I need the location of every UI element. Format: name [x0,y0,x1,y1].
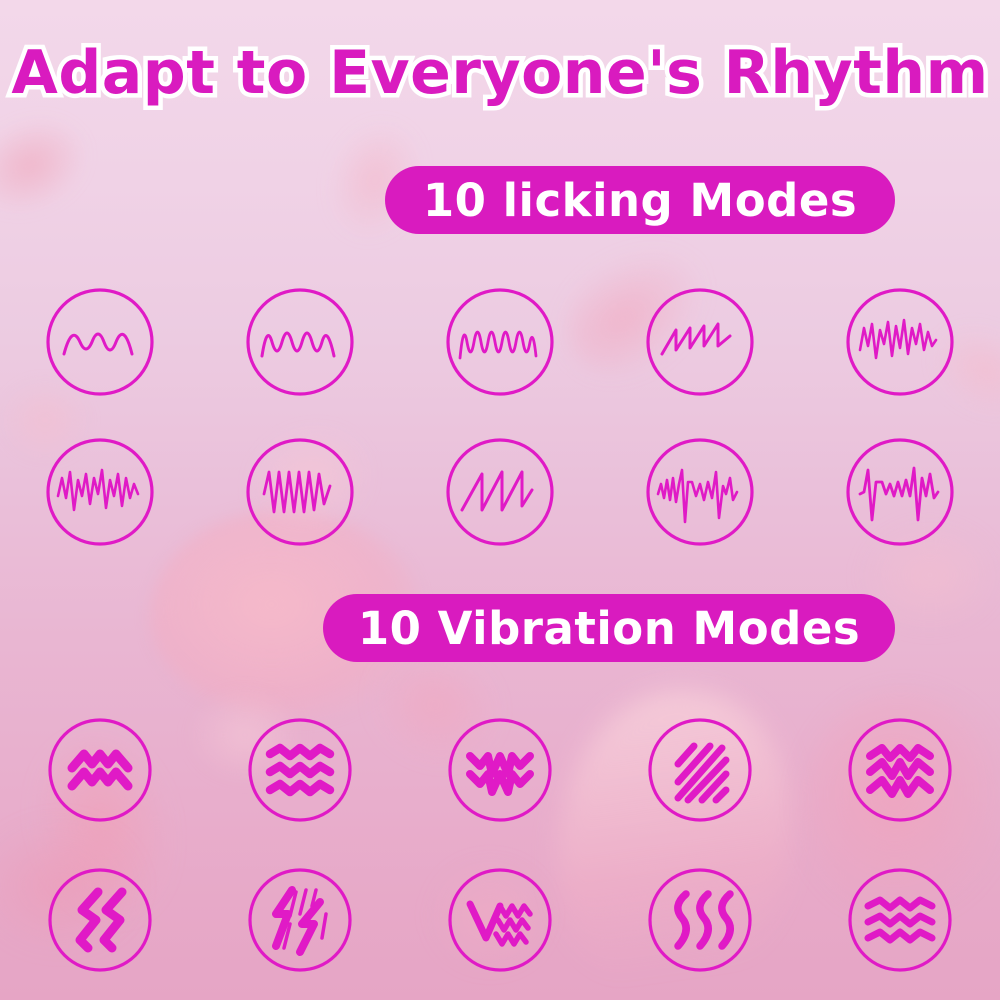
mode-icon-wave-sine-medium[interactable] [242,284,358,400]
v-ripple-icon [442,862,558,978]
mode-icon-triple-wavy-line[interactable] [842,862,958,978]
diagonal-hatch-icon [642,712,758,828]
mode-icon-diagonal-hatch[interactable] [642,712,758,828]
wave-pulse-spike-icon [842,434,958,550]
w-wave-stack-icon [442,712,558,828]
wave-sine-slow-icon [42,284,158,400]
page-title: Adapt to Everyone's Rhythm [0,38,1000,108]
mode-icon-lightning-bolts[interactable] [242,862,358,978]
licking-modes-grid [0,284,1000,584]
section-badge-licking: 10 licking Modes [385,166,895,234]
zigzag-wave-stack-icon [842,712,958,828]
double-lightning-zigzag-icon [42,862,158,978]
wave-pulse-burst-icon [642,434,758,550]
mode-icon-zigzag-wave-stack[interactable] [842,712,958,828]
mode-icon-wave-spiky-dense[interactable] [42,434,158,550]
infographic-canvas: Adapt to Everyone's Rhythm 10 licking Mo… [0,0,1000,1000]
triple-horizontal-wave-icon [242,712,358,828]
mode-icon-double-lightning-zigzag[interactable] [42,862,158,978]
mode-icon-wave-sawtooth-wide[interactable] [442,434,558,550]
wave-sawtooth-wide-icon [442,434,558,550]
wave-zigzag-tall-icon [242,434,358,550]
wave-sine-fast-icon [442,284,558,400]
mode-icon-wave-sawtooth-rising[interactable] [642,284,758,400]
rose-petal-decoration [0,99,103,231]
mode-icon-wave-sine-slow[interactable] [42,284,158,400]
mode-icon-v-ripple[interactable] [442,862,558,978]
mode-icon-wave-pulse-burst[interactable] [642,434,758,550]
mode-icon-wave-spiky-irregular[interactable] [842,284,958,400]
lightning-bolts-icon [242,862,358,978]
mode-icon-triple-horizontal-wave[interactable] [242,712,358,828]
wave-spiky-irregular-icon [842,284,958,400]
mode-icon-wave-pulse-spike[interactable] [842,434,958,550]
triple-wavy-line-icon [842,862,958,978]
wave-sawtooth-rising-icon [642,284,758,400]
wave-spiky-dense-icon [42,434,158,550]
mode-icon-triple-vertical-squiggle[interactable] [642,862,758,978]
mode-icon-wave-sine-fast[interactable] [442,284,558,400]
double-chevron-wave-icon [42,712,158,828]
mode-icon-double-chevron-wave[interactable] [42,712,158,828]
mode-icon-wave-zigzag-tall[interactable] [242,434,358,550]
section-badge-vibration: 10 Vibration Modes [323,594,895,662]
vibration-modes-grid [0,712,1000,1000]
wave-sine-medium-icon [242,284,358,400]
mode-icon-w-wave-stack[interactable] [442,712,558,828]
triple-vertical-squiggle-icon [642,862,758,978]
